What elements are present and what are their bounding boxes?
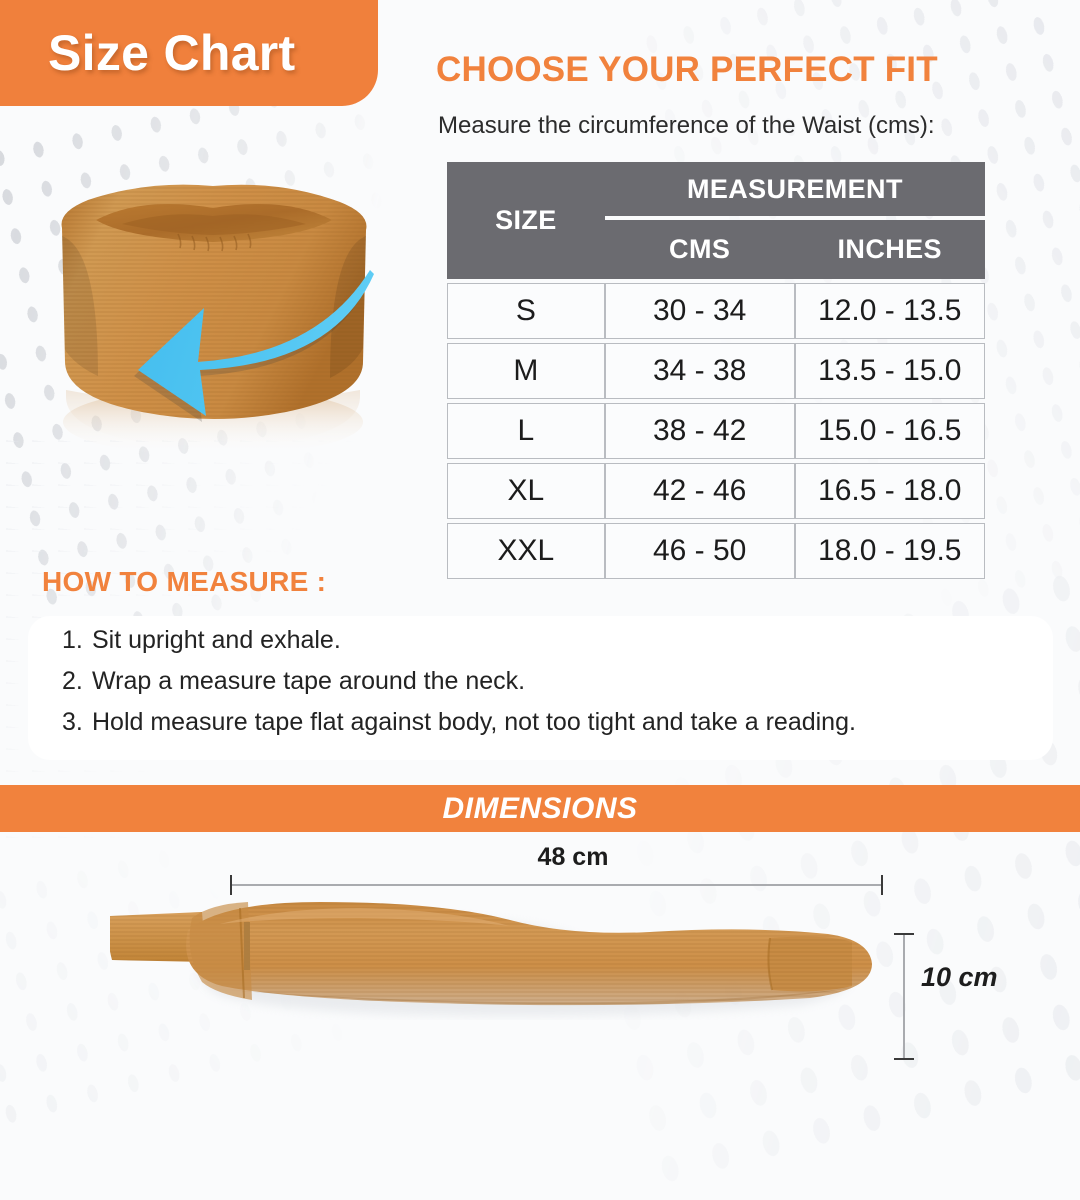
cell-cms: 38 - 42 [605, 403, 795, 459]
column-header-measurement: MEASUREMENT [605, 162, 985, 216]
fit-heading: CHOOSE YOUR PERFECT FIT [436, 50, 938, 90]
table-header-row-1: SIZE MEASUREMENT [447, 162, 985, 216]
page-title: Size Chart [0, 24, 296, 82]
cell-size: XXL [447, 523, 605, 579]
size-chart-table-head: SIZE MEASUREMENT CMS INCHES [447, 162, 985, 279]
cell-inches: 18.0 - 19.5 [795, 523, 986, 579]
list-item: 1. Sit upright and exhale. [62, 620, 1052, 661]
cervical-collar-worn-view [18, 150, 408, 470]
list-item-number: 3. [62, 702, 92, 743]
dimension-height-label: 10 cm [921, 962, 998, 993]
cell-inches: 13.5 - 15.0 [795, 343, 986, 399]
dimension-width-line [230, 884, 883, 886]
cell-cms: 46 - 50 [605, 523, 795, 579]
list-item: 2. Wrap a measure tape around the neck. [62, 661, 1052, 702]
list-item-number: 1. [62, 620, 92, 661]
table-row: S 30 - 34 12.0 - 13.5 [447, 283, 985, 339]
list-item-label: Hold measure tape flat against body, not… [92, 702, 1052, 743]
column-header-size: SIZE [447, 162, 605, 279]
size-chart-title-banner: Size Chart [0, 0, 378, 106]
list-item-number: 2. [62, 661, 92, 702]
dimension-height-line [903, 933, 905, 1060]
cell-inches: 12.0 - 13.5 [795, 283, 986, 339]
column-header-cms: CMS [605, 220, 795, 279]
dimension-width-label: 48 cm [0, 843, 1080, 872]
dimension-width-value: 48 cm [538, 843, 609, 871]
cell-inches: 15.0 - 16.5 [795, 403, 986, 459]
size-chart-table-body: S 30 - 34 12.0 - 13.5 M 34 - 38 13.5 - 1… [447, 283, 985, 579]
cell-size: L [447, 403, 605, 459]
table-row: XL 42 - 46 16.5 - 18.0 [447, 463, 985, 519]
column-header-inches: INCHES [795, 220, 986, 279]
fit-subtitle: Measure the circumference of the Waist (… [438, 112, 935, 140]
cervical-collar-flat-view [110, 890, 900, 1020]
cell-cms: 30 - 34 [605, 283, 795, 339]
table-row: M 34 - 38 13.5 - 15.0 [447, 343, 985, 399]
how-to-measure-list: 1. Sit upright and exhale. 2. Wrap a mea… [62, 620, 1052, 743]
dimensions-label: DIMENSIONS [442, 792, 637, 826]
cell-inches: 16.5 - 18.0 [795, 463, 986, 519]
list-item: 3. Hold measure tape flat against body, … [62, 702, 1052, 743]
list-item-label: Wrap a measure tape around the neck. [92, 661, 1052, 702]
dimensions-band: DIMENSIONS [0, 785, 1080, 832]
cell-cms: 34 - 38 [605, 343, 795, 399]
table-row: XXL 46 - 50 18.0 - 19.5 [447, 523, 985, 579]
cell-size: M [447, 343, 605, 399]
cell-cms: 42 - 46 [605, 463, 795, 519]
cell-size: S [447, 283, 605, 339]
size-chart-table: SIZE MEASUREMENT CMS INCHES S 30 - 34 12… [447, 158, 985, 583]
list-item-label: Sit upright and exhale. [92, 620, 1052, 661]
how-to-measure-heading: HOW TO MEASURE : [42, 566, 326, 598]
table-row: L 38 - 42 15.0 - 16.5 [447, 403, 985, 459]
cell-size: XL [447, 463, 605, 519]
